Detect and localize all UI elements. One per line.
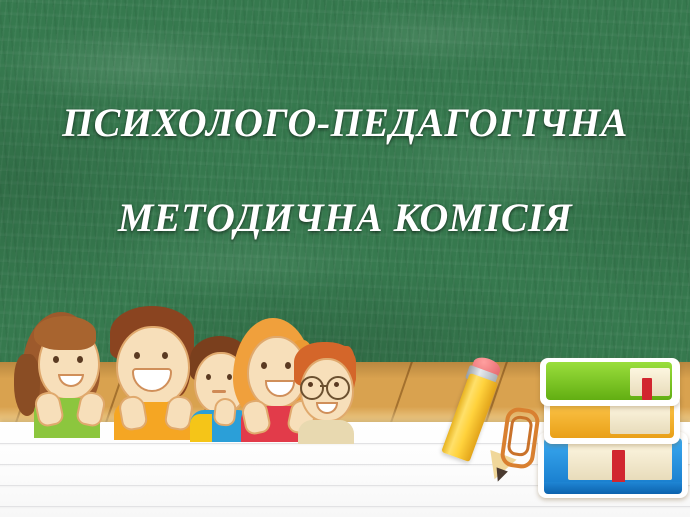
book-stack-illustration <box>538 358 688 503</box>
title-block: ПСИХОЛОГО-ПЕДАГОГІЧНА МЕТОДИЧНА КОМІСІЯ <box>0 0 690 300</box>
paperclip-icon <box>505 392 539 454</box>
kid-girl-brown-hair <box>20 312 112 440</box>
title-line-1: ПСИХОЛОГО-ПЕДАГОГІЧНА <box>0 99 690 146</box>
kid-boy-glasses <box>292 342 364 442</box>
title-line-2: МЕТОДИЧНА КОМІСІЯ <box>0 194 690 241</box>
slide-canvas: ПСИХОЛОГО-ПЕДАГОГІЧНА МЕТОДИЧНА КОМІСІЯ <box>0 0 690 517</box>
children-illustration <box>14 306 354 442</box>
